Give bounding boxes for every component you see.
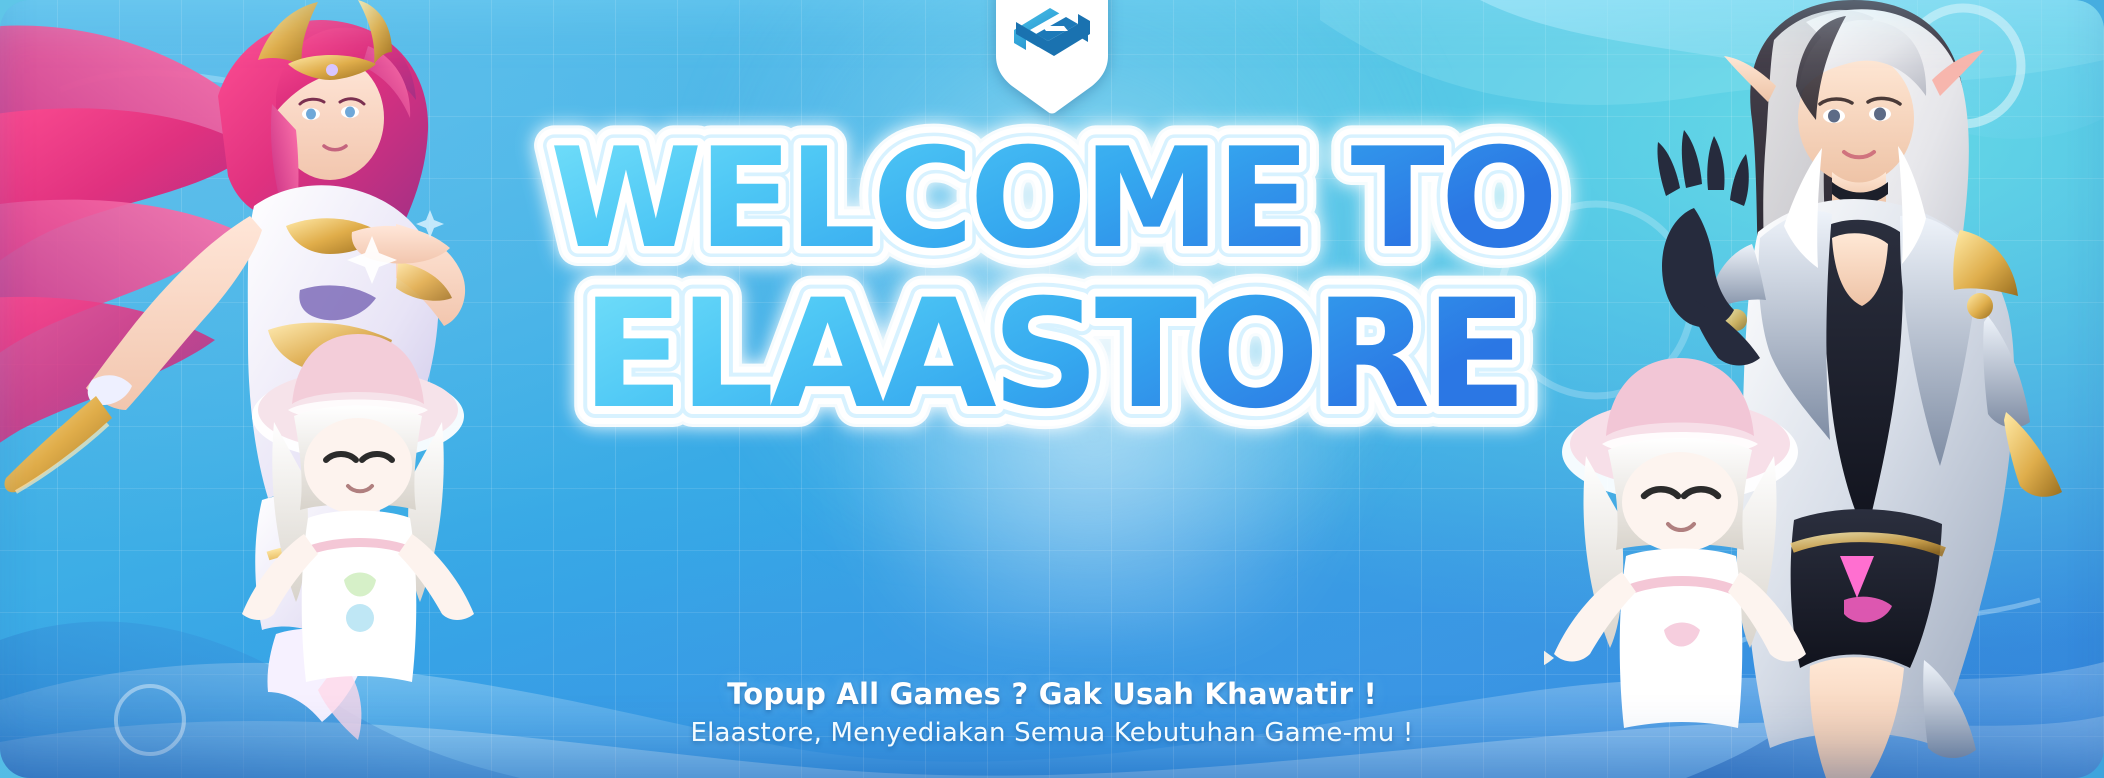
tagline-primary: Topup All Games ? Gak Usah Khawatir ! xyxy=(0,677,2104,711)
tagline-secondary: Elaastore, Menyediakan Semua Kebutuhan G… xyxy=(0,718,2104,748)
right-character-art xyxy=(1544,0,2104,778)
banner-inner: WELCOME TO WELCOME TO WELCOME TO WELCOME… xyxy=(0,0,2104,778)
tagline-block: Topup All Games ? Gak Usah Khawatir ! El… xyxy=(0,677,2104,748)
elaastore-shield-logo-icon[interactable] xyxy=(982,0,1122,126)
welcome-banner: WELCOME TO WELCOME TO WELCOME TO WELCOME… xyxy=(0,0,2104,778)
left-character-art xyxy=(0,0,560,778)
center-glow-inner xyxy=(715,233,1472,638)
